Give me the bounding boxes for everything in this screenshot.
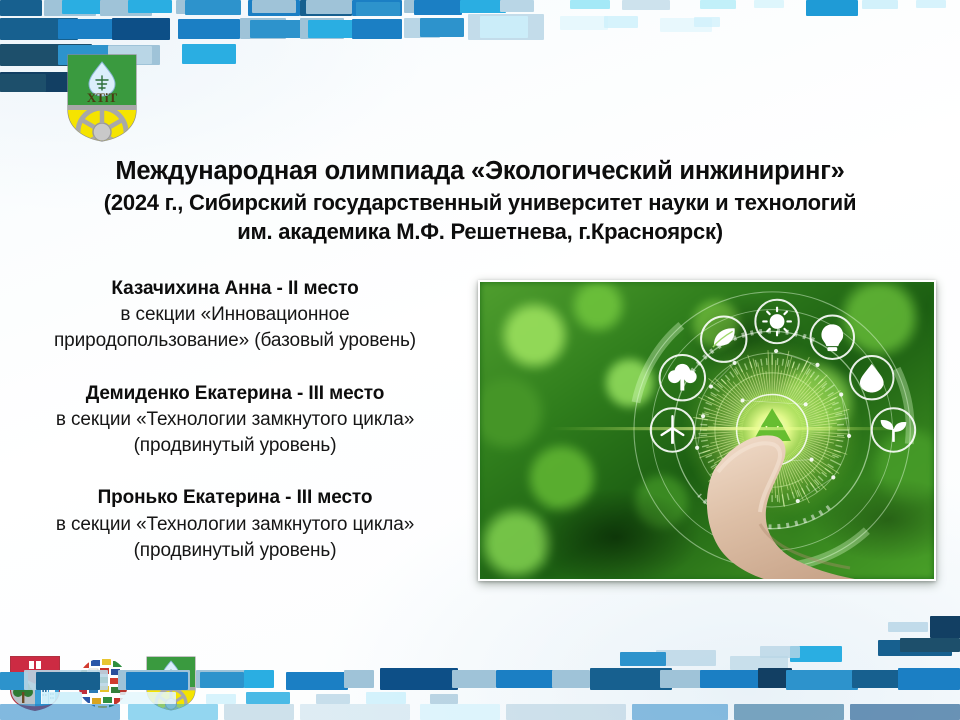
eco-technology-photo: [478, 280, 936, 581]
award-item: Демиденко Екатерина - III место в секции…: [0, 381, 470, 460]
slide-root: ХТіТ Международная олимпиада «Экологичес…: [0, 0, 960, 720]
sun-icon: [755, 300, 798, 343]
bottom-logo-row: ХТіТ: [8, 654, 198, 712]
award-item: Казачихина Анна - II место в секции «Инн…: [0, 276, 470, 355]
award-section-line: в секции «Технологии замкнутого цикла»: [0, 512, 470, 538]
award-name: Пронько Екатерина - III место: [0, 485, 470, 511]
award-item: Пронько Екатерина - III место в секции «…: [0, 485, 470, 564]
award-name: Демиденко Екатерина - III место: [0, 381, 470, 407]
university-shield-logo: [8, 654, 62, 712]
award-level-line: (продвинутый уровень): [0, 538, 470, 564]
award-section-line: в секции «Инновационное: [0, 302, 470, 328]
awards-list: Казачихина Анна - II место в секции «Инн…: [0, 276, 470, 564]
world-flags-globe-logo: [76, 654, 130, 712]
award-level-line: природопользование» (базовый уровень): [0, 328, 470, 354]
award-section-line: в секции «Технологии замкнутого цикла»: [0, 407, 470, 433]
title-line-3: им. академика М.Ф. Решетнева, г.Краснояр…: [26, 218, 934, 247]
award-name: Казачихина Анна - II место: [0, 276, 470, 302]
htit-logo-text: ХТіТ: [162, 679, 181, 688]
htit-shield-logo: ХТіТ: [64, 52, 140, 144]
page-title: Международная олимпиада «Экологический и…: [0, 156, 960, 246]
pointing-hand: [700, 374, 936, 581]
title-line-1: Международная олимпиада «Экологический и…: [26, 156, 934, 186]
htit-logo-text: ХТіТ: [87, 90, 118, 105]
htit-shield-logo: ХТіТ: [144, 654, 198, 712]
title-line-2: (2024 г., Сибирский государственный унив…: [26, 189, 934, 218]
award-level-line: (продвинутый уровень): [0, 433, 470, 459]
